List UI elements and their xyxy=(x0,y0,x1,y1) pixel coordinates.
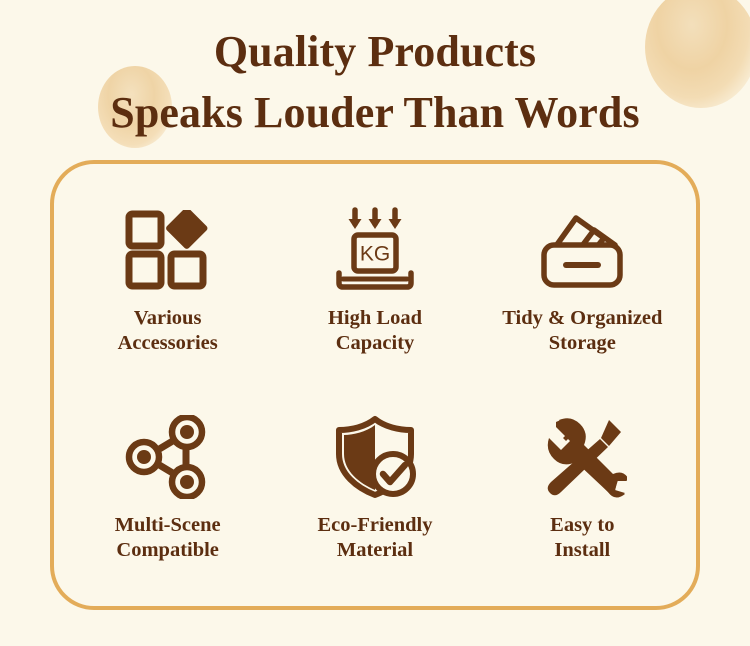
feature-various-accessories: Various Accessories xyxy=(64,182,271,389)
wrench-screwdriver-icon xyxy=(537,411,627,503)
features-grid: Various Accessories xyxy=(54,164,696,606)
squares-diamond-icon xyxy=(125,204,211,296)
feature-label: Various Accessories xyxy=(118,306,218,355)
feature-multi-scene: Multi-Scene Compatible xyxy=(64,389,271,596)
page-title: Quality Products Speaks Louder Than Word… xyxy=(0,22,750,143)
headline-line-1: Quality Products xyxy=(0,22,750,83)
shield-check-icon xyxy=(327,411,423,503)
kg-load-capacity-icon: KG xyxy=(329,204,421,296)
feature-easy-install: Easy to Install xyxy=(479,389,686,596)
headline-line-2: Speaks Louder Than Words xyxy=(0,83,750,144)
features-frame: Various Accessories xyxy=(50,160,700,610)
feature-tidy-storage: Tidy & Organized Storage xyxy=(479,182,686,389)
feature-label: High Load Capacity xyxy=(328,306,422,355)
feature-label: Multi-Scene Compatible xyxy=(115,513,221,562)
storage-box-icon xyxy=(532,204,632,296)
share-network-icon xyxy=(124,411,212,503)
feature-label: Eco-Friendly Material xyxy=(317,513,432,562)
feature-label: Tidy & Organized Storage xyxy=(502,306,662,355)
feature-high-load-capacity: KG High Load Capacity xyxy=(271,182,478,389)
promo-banner: Quality Products Speaks Louder Than Word… xyxy=(0,0,750,646)
feature-eco-friendly: Eco-Friendly Material xyxy=(271,389,478,596)
kg-icon-text: KG xyxy=(360,243,390,266)
feature-label: Easy to Install xyxy=(550,513,614,562)
